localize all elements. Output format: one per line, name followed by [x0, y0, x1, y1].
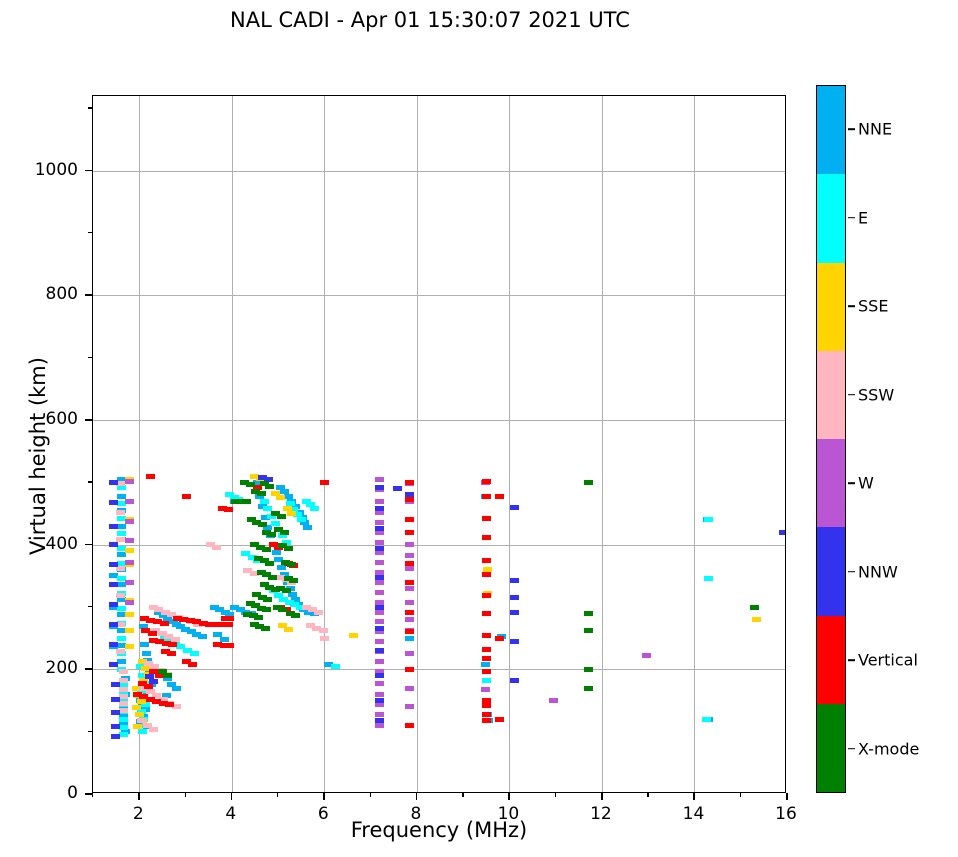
colorbar-tick	[848, 482, 855, 484]
x-tick-minor	[277, 793, 278, 797]
y-tick-major	[85, 793, 92, 795]
data-point	[482, 535, 491, 540]
colorbar-tick	[848, 217, 855, 219]
data-point	[144, 684, 153, 689]
data-point	[495, 717, 504, 722]
data-point	[225, 643, 234, 648]
colorbar-segment-x-mode	[817, 704, 845, 792]
data-point	[261, 626, 270, 631]
data-point	[246, 482, 255, 487]
data-point	[125, 538, 134, 543]
x-tick-major	[601, 793, 603, 800]
data-point	[375, 712, 384, 717]
colorbar-tick	[848, 128, 855, 130]
data-point	[254, 615, 263, 620]
data-point	[287, 511, 296, 516]
data-point	[482, 703, 491, 708]
data-point	[138, 729, 147, 734]
data-point	[549, 698, 558, 703]
data-point	[116, 593, 125, 598]
data-point	[482, 516, 491, 521]
data-point	[272, 550, 281, 555]
data-point	[119, 687, 128, 692]
data-point	[481, 662, 490, 667]
data-point	[405, 610, 414, 615]
data-point	[297, 517, 306, 522]
data-point	[258, 522, 267, 527]
data-point	[642, 653, 651, 658]
data-point	[125, 580, 134, 585]
data-point	[482, 611, 491, 616]
data-point	[750, 605, 759, 610]
data-point	[190, 651, 199, 656]
data-point	[265, 484, 274, 489]
x-tick-major	[138, 793, 140, 800]
x-tick-major	[416, 793, 418, 800]
data-point	[148, 631, 157, 636]
colorbar-tick	[848, 748, 855, 750]
data-point	[375, 723, 384, 728]
data-point	[267, 532, 276, 537]
data-point	[375, 698, 384, 703]
data-point	[117, 606, 126, 611]
data-point	[167, 651, 176, 656]
data-point	[405, 586, 414, 591]
data-point	[482, 718, 491, 723]
data-point	[375, 619, 384, 624]
data-point	[119, 717, 128, 722]
y-tick-major	[85, 419, 92, 421]
y-tick-label: 1000	[18, 160, 78, 180]
data-point	[276, 495, 285, 500]
data-point	[482, 678, 491, 683]
data-point	[405, 517, 414, 522]
data-point	[111, 724, 120, 729]
data-point	[375, 605, 384, 610]
data-point	[262, 547, 271, 552]
data-point	[163, 673, 172, 678]
colorbar-tick	[848, 394, 855, 396]
data-point	[111, 710, 120, 715]
data-point	[375, 718, 384, 723]
data-point	[584, 667, 593, 672]
data-point	[375, 499, 384, 504]
data-point	[375, 639, 384, 644]
data-point	[375, 575, 384, 580]
data-point	[109, 642, 118, 647]
data-point	[510, 639, 519, 644]
data-point	[125, 519, 134, 524]
y-tick-major	[85, 544, 92, 546]
data-point	[277, 514, 286, 519]
colorbar-label-w: W	[858, 474, 874, 493]
data-point	[704, 517, 713, 522]
data-point	[265, 561, 274, 566]
data-point	[375, 626, 384, 631]
data-point	[111, 682, 120, 687]
data-point	[482, 572, 491, 577]
data-point	[405, 530, 414, 535]
data-point	[405, 723, 414, 728]
data-point	[495, 494, 504, 499]
colorbar-segment-ssw	[817, 351, 845, 439]
data-point	[405, 542, 414, 547]
data-point	[117, 636, 126, 641]
data-point	[510, 505, 519, 510]
data-point	[160, 621, 169, 626]
data-point	[482, 558, 491, 563]
data-point	[495, 636, 504, 641]
data-point	[282, 588, 291, 593]
data-point	[117, 659, 126, 664]
x-tick-minor	[92, 793, 93, 797]
data-point	[319, 628, 328, 633]
data-point	[405, 600, 414, 605]
data-point	[109, 524, 118, 529]
data-point	[375, 477, 384, 482]
data-point	[375, 526, 384, 531]
data-point	[482, 479, 491, 484]
y-tick-label: 0	[18, 783, 78, 803]
data-point	[779, 530, 786, 535]
y-tick-minor	[88, 232, 92, 233]
data-point	[405, 704, 414, 709]
data-point	[510, 678, 519, 683]
data-point	[320, 636, 329, 641]
data-point	[119, 732, 128, 737]
data-point	[481, 687, 490, 692]
data-point	[375, 546, 384, 551]
data-point	[375, 506, 384, 511]
data-point	[375, 659, 384, 664]
x-tick-minor	[555, 793, 556, 797]
data-point	[116, 510, 125, 515]
data-point	[212, 545, 221, 550]
data-point	[225, 616, 234, 621]
data-point	[405, 566, 414, 571]
data-point	[168, 642, 177, 647]
data-point	[242, 499, 251, 504]
data-point	[375, 560, 384, 565]
colorbar-label-nne: NNE	[858, 120, 892, 139]
data-point	[405, 617, 414, 622]
data-point	[287, 562, 296, 567]
colorbar-label-ssw: SSW	[858, 385, 894, 404]
data-point	[704, 576, 713, 581]
ionogram-figure: NAL CADI - Apr 01 15:30:07 2021 UTC 0200…	[0, 0, 958, 857]
data-point	[375, 648, 384, 653]
data-point	[584, 611, 593, 616]
data-point	[584, 480, 593, 485]
colorbar-tick	[848, 659, 855, 661]
data-point	[182, 494, 191, 499]
data-point	[133, 724, 142, 729]
data-point	[375, 610, 384, 615]
y-tick-minor	[88, 606, 92, 607]
data-point	[510, 578, 519, 583]
data-point	[375, 681, 384, 686]
data-point	[482, 593, 491, 598]
y-tick-minor	[88, 731, 92, 732]
data-point	[405, 553, 414, 558]
colorbar-segment-e	[817, 174, 845, 262]
data-point	[482, 633, 491, 638]
data-point	[109, 500, 118, 505]
data-point	[405, 667, 414, 672]
data-point	[375, 540, 384, 545]
colorbar-label-sse: SSE	[858, 297, 888, 316]
data-point	[482, 669, 491, 674]
data-point	[331, 664, 340, 669]
data-point	[119, 725, 128, 730]
y-tick-major	[85, 294, 92, 296]
data-point	[584, 628, 593, 633]
colorbar-tick	[848, 571, 855, 573]
data-point	[119, 708, 128, 713]
data-point	[375, 520, 384, 525]
data-point	[393, 486, 402, 491]
x-tick-minor	[185, 793, 186, 797]
y-tick-minor	[88, 107, 92, 108]
colorbar	[816, 85, 846, 793]
data-point	[375, 590, 384, 595]
x-tick-minor	[370, 793, 371, 797]
colorbar-segment-sse	[817, 263, 845, 351]
data-point	[109, 602, 118, 607]
x-tick-minor	[462, 793, 463, 797]
data-point	[109, 562, 118, 567]
colorbar-tick	[848, 305, 855, 307]
data-point	[146, 474, 155, 479]
colorbar-label-x-mode: X-mode	[858, 739, 919, 758]
data-point	[125, 644, 134, 649]
data-point	[125, 600, 134, 605]
data-point	[109, 480, 118, 485]
data-point	[510, 595, 519, 600]
y-tick-major	[85, 170, 92, 172]
data-point	[584, 686, 593, 691]
data-point	[135, 712, 144, 717]
data-point	[188, 662, 197, 667]
data-point	[125, 612, 134, 617]
x-tick-major	[693, 793, 695, 800]
data-point	[262, 607, 271, 612]
colorbar-segment-nnw	[817, 527, 845, 615]
colorbar-label-vertical: Vertical	[858, 651, 918, 670]
data-point	[172, 686, 181, 691]
data-point	[125, 499, 134, 504]
data-point	[405, 480, 414, 485]
data-point	[291, 613, 300, 618]
colorbar-label-nnw: NNW	[858, 562, 898, 581]
data-point	[405, 561, 414, 566]
data-point	[111, 697, 120, 702]
data-point	[109, 582, 118, 587]
data-point	[119, 694, 128, 699]
data-point	[375, 485, 384, 490]
data-point	[405, 686, 414, 691]
colorbar-label-e: E	[858, 208, 868, 227]
data-point	[510, 610, 519, 615]
data-point	[268, 575, 277, 580]
data-point	[109, 662, 118, 667]
data-point	[303, 525, 312, 530]
data-point	[375, 580, 384, 585]
data-point	[125, 560, 134, 565]
data-point	[314, 610, 323, 615]
data-point	[289, 578, 298, 583]
data-point	[482, 647, 491, 652]
data-point	[320, 480, 329, 485]
data-point	[280, 530, 289, 535]
data-point	[224, 622, 233, 627]
data-point	[284, 546, 293, 551]
data-point	[125, 479, 134, 484]
data-point	[310, 506, 319, 511]
colorbar-segment-nne	[817, 86, 845, 174]
data-point	[142, 651, 151, 656]
data-point	[405, 580, 414, 585]
colorbar-segment-vertical	[817, 616, 845, 704]
data-point	[482, 494, 491, 499]
data-point	[125, 628, 134, 633]
x-tick-major	[786, 793, 788, 800]
data-point	[119, 701, 128, 706]
data-point	[271, 521, 280, 526]
page-title: NAL CADI - Apr 01 15:30:07 2021 UTC	[0, 8, 860, 32]
data-point	[149, 727, 158, 732]
data-point	[111, 734, 120, 739]
data-point	[702, 717, 711, 722]
data-point	[284, 627, 293, 632]
x-tick-major	[323, 793, 325, 800]
data-point	[257, 491, 266, 496]
plot-area	[92, 95, 786, 793]
data-point	[752, 617, 761, 622]
data-point	[405, 497, 414, 502]
data-point	[116, 649, 125, 654]
data-point	[198, 634, 207, 639]
x-tick-minor	[647, 793, 648, 797]
data-point	[482, 712, 491, 717]
data-point	[132, 705, 141, 710]
data-point	[137, 699, 146, 704]
data-point	[375, 673, 384, 678]
data-point	[405, 629, 414, 634]
y-axis-label: Virtual height (km)	[26, 206, 50, 706]
y-tick-major	[85, 668, 92, 670]
data-point	[119, 678, 128, 683]
y-tick-minor	[88, 481, 92, 482]
data-point	[263, 597, 272, 602]
x-axis-label: Frequency (MHz)	[92, 818, 786, 842]
data-point	[375, 692, 384, 697]
data-point	[117, 531, 126, 536]
data-point	[109, 542, 118, 547]
data-point	[405, 651, 414, 656]
data-point	[260, 499, 269, 504]
data-point	[482, 656, 491, 661]
data-point	[125, 548, 134, 553]
colorbar-segment-w	[817, 439, 845, 527]
data-point	[405, 636, 414, 641]
x-tick-minor	[740, 793, 741, 797]
x-tick-major	[508, 793, 510, 800]
data-point	[165, 702, 174, 707]
data-point	[117, 524, 126, 529]
data-point	[224, 507, 233, 512]
y-tick-minor	[88, 357, 92, 358]
data-point	[109, 622, 118, 627]
data-point	[119, 669, 128, 674]
x-tick-major	[231, 793, 233, 800]
data-points-layer	[93, 96, 785, 792]
data-point	[349, 633, 358, 638]
